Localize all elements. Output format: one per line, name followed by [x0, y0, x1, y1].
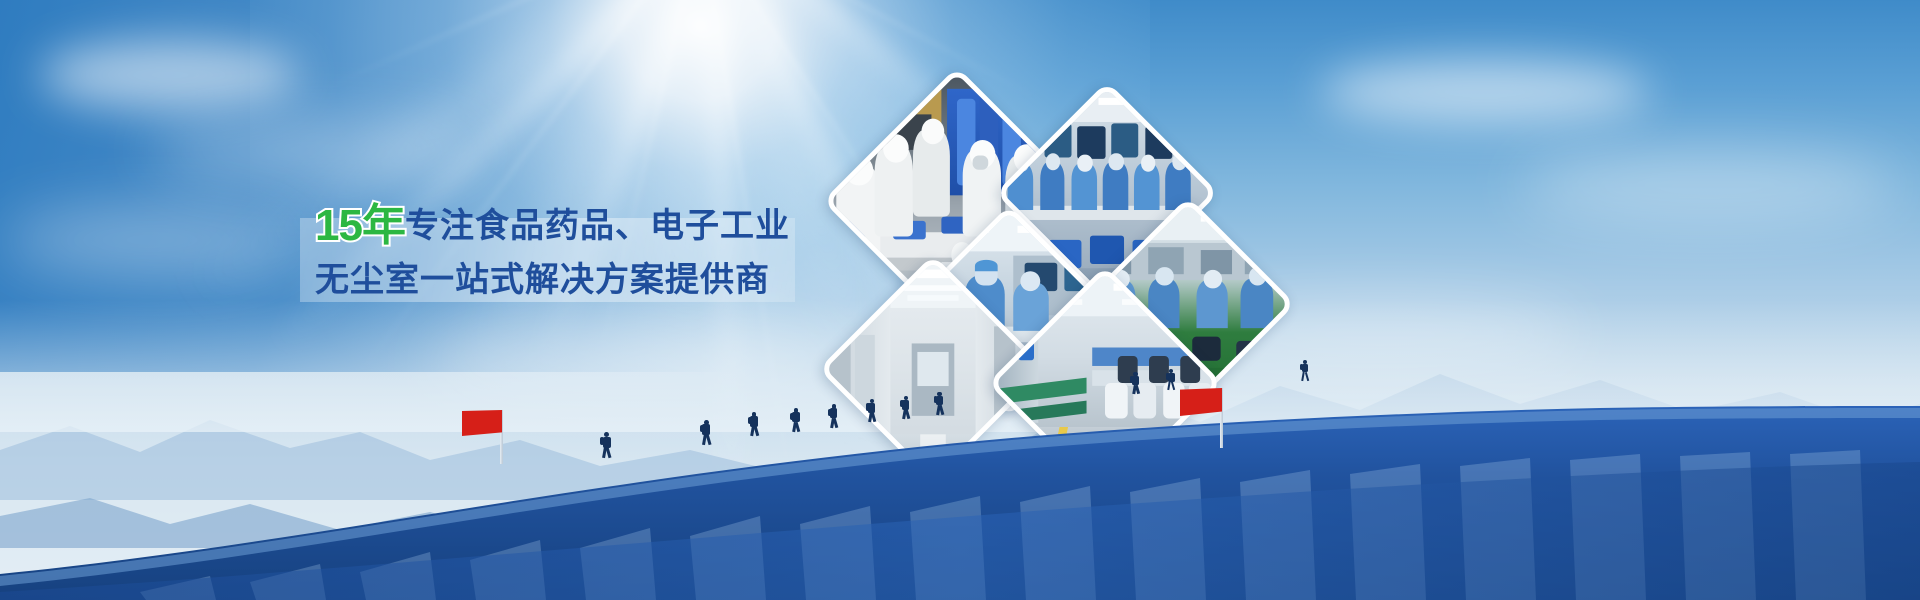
flag-left	[462, 410, 512, 464]
climber	[1130, 372, 1142, 394]
climber	[1166, 369, 1178, 391]
climber	[790, 408, 803, 432]
climber	[748, 412, 761, 436]
climber	[600, 432, 614, 458]
headline-line-2-text: 无尘室一站式解决方案提供商	[315, 257, 770, 303]
cloud	[40, 40, 300, 110]
cloud	[1320, 60, 1650, 124]
flag-cloth	[462, 410, 502, 436]
headline-line-1: 15年 专注食品药品、电子工业	[315, 203, 815, 249]
years-number: 15年	[315, 203, 405, 249]
hero-banner: 15年 专注食品药品、电子工业 无尘室一站式解决方案提供商	[0, 0, 1920, 600]
climber	[1300, 360, 1311, 381]
climber	[900, 396, 912, 419]
cloud	[0, 210, 300, 270]
foreground-ridge	[0, 360, 1920, 600]
flag-right	[1180, 388, 1232, 448]
cloud	[1520, 150, 1900, 222]
headline-block: 15年 专注食品药品、电子工业 无尘室一站式解决方案提供商	[315, 203, 815, 315]
climber	[866, 399, 878, 422]
headline-line-1-rest: 专注食品药品、电子工业	[405, 203, 790, 249]
headline-line-2: 无尘室一站式解决方案提供商	[315, 257, 815, 303]
flag-cloth	[1180, 388, 1222, 416]
climber	[934, 392, 946, 415]
climber	[828, 404, 841, 427]
climber	[700, 420, 713, 445]
cloud	[150, 120, 490, 180]
